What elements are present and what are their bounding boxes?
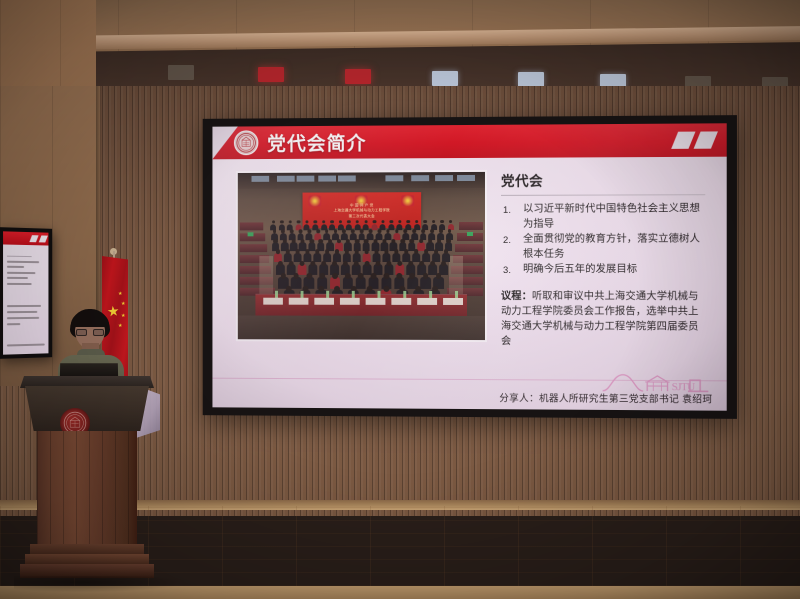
photo-table-paper [391, 298, 411, 305]
photo-attendee-head [289, 261, 294, 266]
content-heading: 党代会 [501, 169, 705, 190]
monitor-text-line [7, 317, 39, 319]
photo-attendee-head [375, 261, 380, 266]
slide-body: 中 国 共 产 党 上海交通大学机械与动力工程学院 第三次代表大会 [212, 157, 726, 411]
photo-table-paper [314, 298, 334, 305]
photo-attendee-head [415, 220, 418, 223]
photo-attendee-head [310, 261, 315, 266]
header-corner-marks-icon [675, 131, 718, 149]
photo-attendee-head [332, 273, 338, 279]
ceiling-light [345, 69, 371, 84]
photo-attendee-head [345, 273, 351, 279]
photo-head-table [255, 294, 467, 316]
list-text: 全面贯彻党的教育方针，落实立德树人根本任务 [523, 234, 700, 260]
monitor-text-line [7, 261, 39, 263]
photo-attendee-head [441, 220, 444, 223]
photo-table-paper [366, 298, 386, 305]
photo-attendee-head [398, 220, 401, 223]
photo-attendee-head [377, 230, 381, 234]
photo-attendee-head [280, 220, 283, 223]
photo-attendee-head [446, 239, 450, 243]
photo-attendee-head [306, 273, 312, 279]
photo-attendee-head [343, 261, 348, 266]
photo-attendee-head [371, 273, 377, 279]
photo-attendee-head [373, 220, 376, 223]
photo-attendee-head [330, 220, 333, 223]
photo-attendee-head [365, 261, 370, 266]
sjtu-seal-logo-icon [234, 130, 258, 155]
content-list: 1. 以习近平新时代中国特色社会主义思想为指导 2. 全面贯彻党的教育方针，落实… [501, 202, 705, 278]
photo-attendee-head [373, 239, 377, 243]
list-item: 3. 明确今后五年的发展目标 [501, 263, 705, 278]
photo-attendee-head [407, 220, 410, 223]
photo-attendee-head [430, 261, 435, 266]
photo-attendee-head [355, 239, 359, 243]
monitor-text-line [7, 266, 24, 268]
monitor-text-line [7, 283, 32, 285]
list-item: 2. 全面贯彻党的教育方针，落实立德树人根本任务 [501, 233, 705, 263]
photo-attendee-head [339, 220, 342, 223]
photo-table-paper [417, 298, 437, 305]
photo-attendee-head [281, 273, 287, 279]
photo-attendee-head [299, 261, 304, 266]
slide-text-column: 党代会 1. 以习近平新时代中国特色社会主义思想为指导 2. 全面贯彻党的教育方… [501, 169, 705, 350]
ceiling-light [258, 67, 284, 82]
photo-attendee-head [390, 220, 393, 223]
list-item: 1. 以习近平新时代中国特色社会主义思想为指导 [501, 202, 705, 232]
monitor-footer-line [7, 344, 45, 347]
confidence-monitor-screen [3, 231, 48, 354]
photo-attendee-head [316, 230, 320, 234]
auditorium-scene: 党代会简介 中 国 共 产 党 [0, 0, 800, 599]
photo-attendee-head [358, 273, 364, 279]
photo-attendee-head [449, 220, 452, 223]
photo-attendee-head [436, 273, 442, 279]
heading-rule [501, 194, 705, 196]
photo-attendee-head [430, 229, 434, 233]
list-text: 明确今后五年的发展目标 [523, 264, 637, 275]
photo-attendee-head [432, 220, 435, 223]
slide-footer: SJTU 分享人：机器人所研究生第三党支部书记 袁绍珂 [212, 378, 726, 411]
photo-table-bottle [326, 291, 329, 298]
photo-table-bottle [455, 291, 458, 298]
monitor-text-line [7, 272, 35, 274]
photo-attendee-head [272, 220, 275, 223]
photo-attendee-head [328, 239, 332, 243]
photo-attendee-head [319, 273, 325, 279]
monitor-text-line [7, 277, 28, 279]
ceiling-light [168, 65, 194, 80]
monitor-header-bar [3, 231, 48, 245]
photo-attendee-head [424, 220, 427, 223]
photo-attendee-head [314, 220, 317, 223]
photo-attendee-head [419, 239, 423, 243]
photo-table-paper [340, 298, 360, 305]
photo-attendee-head [319, 239, 323, 243]
list-number: 1. [503, 203, 511, 218]
list-number: 2. [503, 233, 511, 248]
group-photo: 中 国 共 产 党 上海交通大学机械与动力工程学院 第三次代表大会 [238, 172, 485, 340]
photo-attendee-head [288, 220, 291, 223]
flag-star-small: ★ [121, 302, 125, 307]
photo-attendee-head [441, 261, 446, 266]
photo-table-bottle [378, 291, 381, 298]
photo-attendee [371, 224, 377, 230]
agenda-label: 议程： [501, 291, 532, 302]
photo-attendee-head [307, 230, 311, 234]
photo-attendee-head [293, 273, 299, 279]
photo-attendee-head [439, 229, 443, 233]
monitor-content [3, 244, 48, 354]
photo-attendee [388, 224, 394, 230]
agenda-paragraph: 议程：听取和审议中共上海交通大学机械与动力工程学院委员会工作报告，选举中共上海交… [501, 289, 705, 350]
photo-attendee-head [419, 261, 424, 266]
photo-table-bottle [429, 291, 432, 298]
confidence-monitor [0, 227, 52, 359]
list-text: 以习近平新时代中国特色社会主义思想为指导 [523, 203, 700, 229]
photo-attendee-head [364, 220, 367, 223]
photo-attendee-head [397, 261, 402, 266]
photo-attendee [297, 264, 306, 275]
photo-attendee-head [354, 261, 359, 266]
photo-table-paper [443, 298, 463, 305]
photo-attendee-head [397, 273, 403, 279]
slide-header-bar: 党代会简介 [212, 123, 726, 159]
photo-attendee-head [322, 220, 325, 223]
photo-attendee-head [408, 261, 413, 266]
photo-table-bottle [275, 291, 278, 298]
photo-table-paper [289, 298, 309, 305]
photo-attendee-head [297, 220, 300, 223]
photo-attendee-head [384, 273, 390, 279]
photo-attendee-head [356, 220, 359, 223]
photo-attendee-head [410, 239, 414, 243]
photo-attendee-head [278, 261, 283, 266]
photo-table-paper [263, 298, 283, 305]
photo-attendee-head [423, 273, 429, 279]
photo-attendee-head [273, 239, 277, 243]
photo-table-bottle [403, 291, 406, 298]
photo-attendee-head [386, 261, 391, 266]
eyeglasses-icon [76, 329, 104, 336]
slide-title: 党代会简介 [267, 129, 366, 156]
sjtu-gate-watermark-icon: SJTU [601, 369, 711, 394]
photo-attendee-head [401, 239, 405, 243]
photo-attendee-head [332, 261, 337, 266]
photo-attendee-head [410, 273, 416, 279]
photo-attendee [363, 224, 369, 230]
monitor-text-line [7, 311, 37, 313]
photo-attendee-head [283, 239, 287, 243]
photo-table-bottle [301, 291, 304, 298]
photo-attendee-head [321, 261, 326, 266]
flag-star-small: ★ [118, 292, 122, 297]
monitor-text-line [7, 305, 41, 307]
wooden-lectern [20, 376, 154, 591]
photo-attendee-head [347, 220, 350, 223]
photo-table-bottle [352, 291, 355, 298]
presenter-credit: 分享人：机器人所研究生第三党支部书记 袁绍珂 [499, 390, 712, 405]
projection-screen-frame: 党代会简介 中 国 共 产 党 [203, 115, 737, 419]
ceiling-light [432, 71, 458, 86]
photo-attendee-head [369, 230, 373, 234]
projection-screen: 党代会简介 中 国 共 产 党 [212, 123, 726, 410]
list-number: 3. [503, 263, 511, 278]
photo-attendee-head [381, 220, 384, 223]
photo-attendee-head [364, 239, 368, 243]
monitor-text-line [7, 323, 20, 325]
photo-attendee-head [310, 239, 314, 243]
monitor-rule [7, 256, 32, 257]
photo-attendee-head [305, 220, 308, 223]
